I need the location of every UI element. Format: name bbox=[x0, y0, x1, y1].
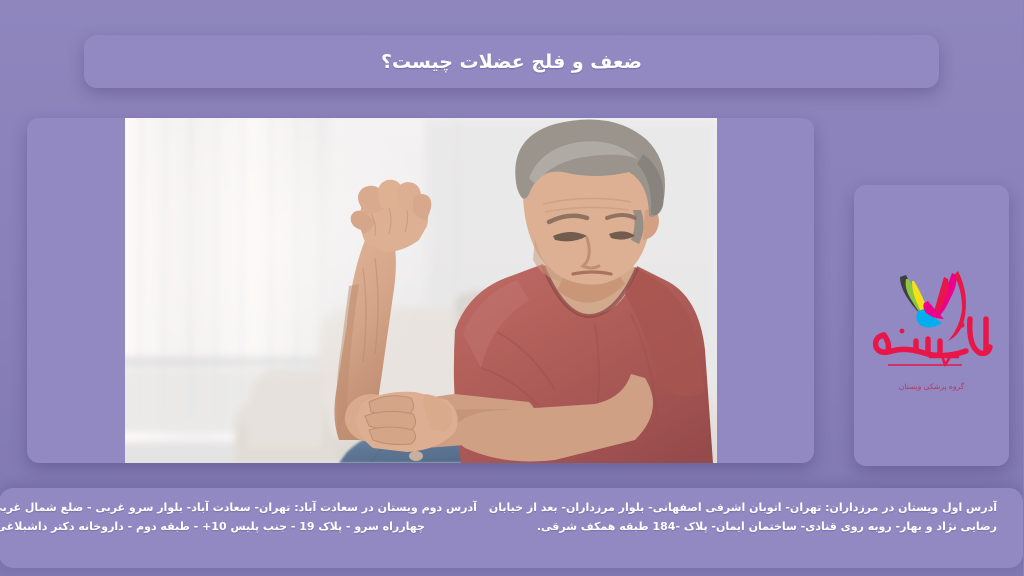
hero-photo-illustration bbox=[126, 118, 718, 463]
address-line: رضایی نژاد و بهار- روبه روی قنادی- ساختم… bbox=[490, 517, 998, 536]
footer-address-bar: آدرس اول ویستان در مرزداران: تهران- اتوب… bbox=[0, 488, 1024, 568]
address-line: آدرس اول ویستان در مرزداران: تهران- اتوب… bbox=[490, 498, 998, 517]
title-panel: ضعف و فلج عضلات چیست؟ bbox=[85, 35, 940, 88]
logo-bird-icon bbox=[901, 271, 967, 341]
hero-photo bbox=[126, 118, 718, 463]
content-panel bbox=[28, 118, 815, 463]
logo-panel: گروه پزشکی ویستان bbox=[855, 185, 1010, 466]
logo-dot bbox=[960, 322, 965, 327]
address-line: آدرس دوم ویستان در سعادت آباد: تهران- سع… bbox=[0, 498, 478, 517]
logo-caption: گروه پزشکی ویستان bbox=[867, 382, 999, 391]
vistan-logo: گروه پزشکی ویستان bbox=[867, 261, 999, 391]
vistan-logo-mark bbox=[867, 261, 999, 381]
address-line: چهارراه سرو - پلاک 19 - جنب پلیس 10+ - ط… bbox=[0, 517, 478, 536]
address-block-saadatabad: آدرس دوم ویستان در سعادت آباد: تهران- سع… bbox=[0, 498, 484, 537]
page-title: ضعف و فلج عضلات چیست؟ bbox=[382, 51, 643, 73]
address-block-marzdaran: آدرس اول ویستان در مرزداران: تهران- اتوب… bbox=[484, 498, 1004, 537]
logo-dot bbox=[900, 328, 905, 333]
